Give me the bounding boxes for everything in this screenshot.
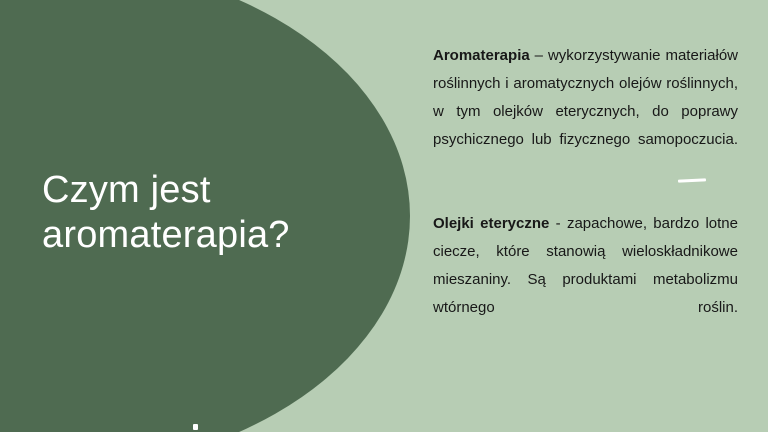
page-title: Czym jest aromaterapia? — [42, 168, 352, 258]
presentation-slide: Czym jest aromaterapia? Aromaterapia – w… — [0, 0, 768, 432]
term-label-olejki-eteryczne: Olejki eteryczne — [433, 215, 549, 232]
paragraph-olejki-eteryczne: Olejki eteryczne - zapachowe, bardzo lot… — [433, 210, 738, 350]
body-text-block: Aromaterapia – wykorzystywanie materiałó… — [433, 42, 738, 350]
dot-accent-icon — [193, 424, 198, 430]
paragraph-aromaterapia: Aromaterapia – wykorzystywanie materiałó… — [433, 42, 738, 182]
term-label-aromaterapia: Aromaterapia — [433, 47, 530, 64]
